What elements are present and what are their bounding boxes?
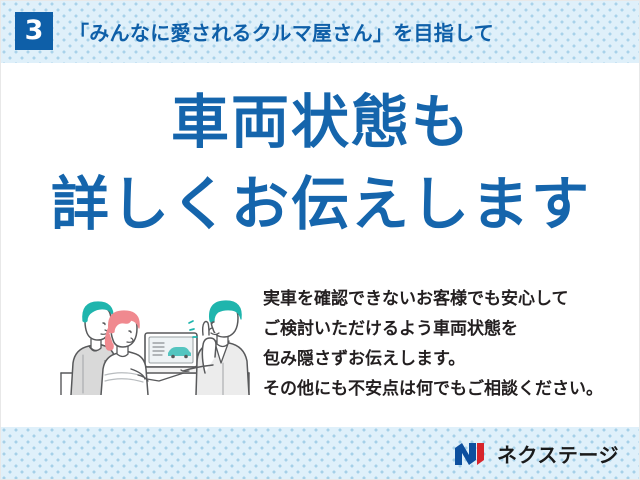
brand-name: ネクステージ: [497, 439, 619, 468]
headline-line-1: 車両状態も: [1, 93, 640, 151]
brand-lockup: ネクステージ: [454, 439, 619, 468]
footer-band: ネクステージ: [1, 427, 640, 480]
body-line-4: その他にも不安点は何でもご相談ください。: [263, 374, 629, 404]
header-band: 3 「みんなに愛されるクルマ屋さん」を目指して: [1, 1, 640, 63]
headline: 車両状態も 詳しくお伝えします: [1, 93, 640, 233]
headline-line-2: 詳しくお伝えします: [1, 175, 640, 233]
nextage-logo-icon: [454, 441, 490, 467]
body-copy: 実車を確認できないお客様でも安心して ご検討いただけるよう車両状態を 包み隠さず…: [263, 284, 629, 404]
header-content: 3 「みんなに愛されるクルマ屋さん」を目指して: [15, 12, 494, 50]
body-line-2: ご検討いただけるよう車両状態を: [263, 314, 629, 344]
body-line-3: 包み隠さずお伝えします。: [263, 344, 629, 374]
promo-banner: 3 「みんなに愛されるクルマ屋さん」を目指して 車両状態も 詳しくお伝えします: [0, 0, 640, 480]
consultation-illustration: [53, 277, 263, 395]
header-title: 「みんなに愛されるクルマ屋さん」を目指して: [69, 17, 494, 46]
body-line-1: 実車を確認できないお客様でも安心して: [263, 284, 629, 314]
step-number-badge: 3: [15, 12, 53, 50]
